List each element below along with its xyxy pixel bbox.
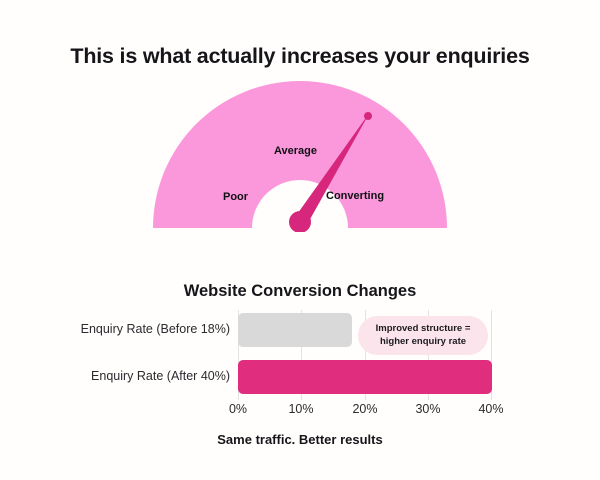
gauge-label-poor: Poor [223, 191, 248, 203]
annotation-line-1: Improved structure = [376, 323, 471, 336]
gauge-needle-hub [289, 211, 311, 232]
y-axis-label-before: Enquiry Rate (Before 18%) [0, 322, 230, 336]
page-title: This is what actually increases your enq… [0, 44, 600, 69]
chart-title: Website Conversion Changes [0, 282, 600, 301]
x-axis-tick-4: 40% [478, 402, 503, 416]
y-axis-label-after: Enquiry Rate (After 40%) [0, 369, 230, 383]
annotation-line-2: higher enquiry rate [380, 336, 466, 349]
bar-chart: Website Conversion Changes Enquiry Rate … [0, 282, 600, 452]
x-axis-tick-0: 0% [229, 402, 247, 416]
x-axis-tick-1: 10% [288, 402, 313, 416]
bar-enquiry-rate-after [238, 360, 492, 394]
annotation-callout: Improved structure = higher enquiry rate [358, 316, 488, 355]
gauge-label-average: Average [274, 145, 317, 157]
gauge-needle-tip [364, 112, 372, 120]
gauge-chart: Average Poor Converting [150, 80, 450, 232]
x-axis-tick-3: 30% [415, 402, 440, 416]
x-axis-tick-2: 20% [352, 402, 377, 416]
gauge-label-converting: Converting [326, 190, 384, 202]
chart-footer-text: Same traffic. Better results [0, 432, 600, 447]
plot-area: Enquiry Rate (Before 18%) Enquiry Rate (… [238, 310, 492, 400]
bar-enquiry-rate-before [238, 313, 352, 347]
